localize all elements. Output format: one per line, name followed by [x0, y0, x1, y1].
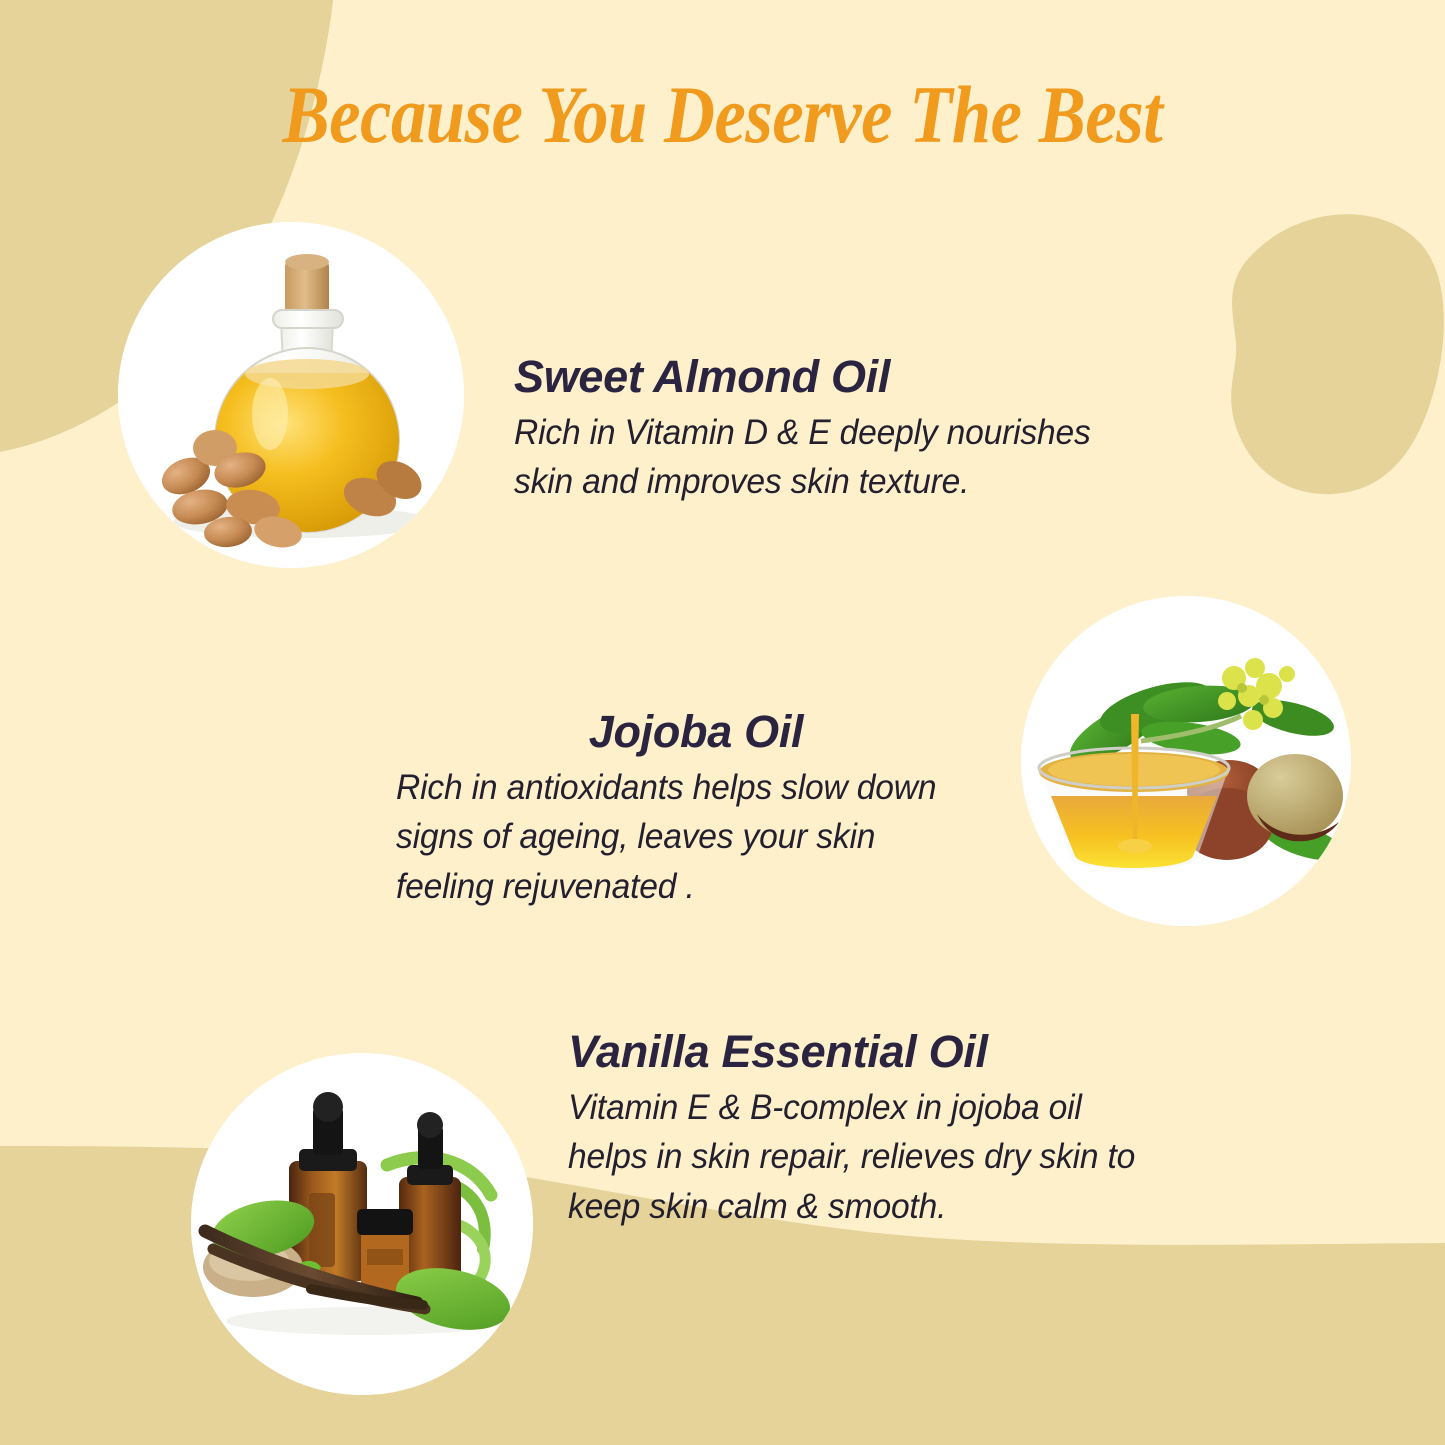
almond-oil-photo	[118, 222, 464, 568]
section-sweet-almond-oil: Sweet Almond Oil Rich in Vitamin D & E d…	[514, 352, 1154, 507]
section-vanilla-essential-oil: Vanilla Essential Oil Vitamin E & B-comp…	[568, 1027, 1168, 1232]
section-title-jojoba: Jojoba Oil	[396, 707, 996, 757]
section-body-almond: Rich in Vitamin D & E deeply nourishes s…	[514, 408, 1128, 507]
page-title: Because You Deserve The Best	[101, 74, 1344, 156]
infographic-poster: Because You Deserve The Best	[0, 0, 1445, 1445]
section-title-vanilla: Vanilla Essential Oil	[568, 1027, 1168, 1077]
section-jojoba-oil: Jojoba Oil Rich in antioxidants helps sl…	[396, 707, 996, 912]
vanilla-oil-photo	[191, 1053, 533, 1395]
section-body-jojoba: Rich in antioxidants helps slow down sig…	[396, 763, 972, 912]
section-title-almond: Sweet Almond Oil	[514, 352, 1154, 402]
jojoba-oil-photo	[1021, 596, 1351, 926]
section-body-vanilla: Vitamin E & B-complex in jojoba oil help…	[568, 1083, 1144, 1232]
